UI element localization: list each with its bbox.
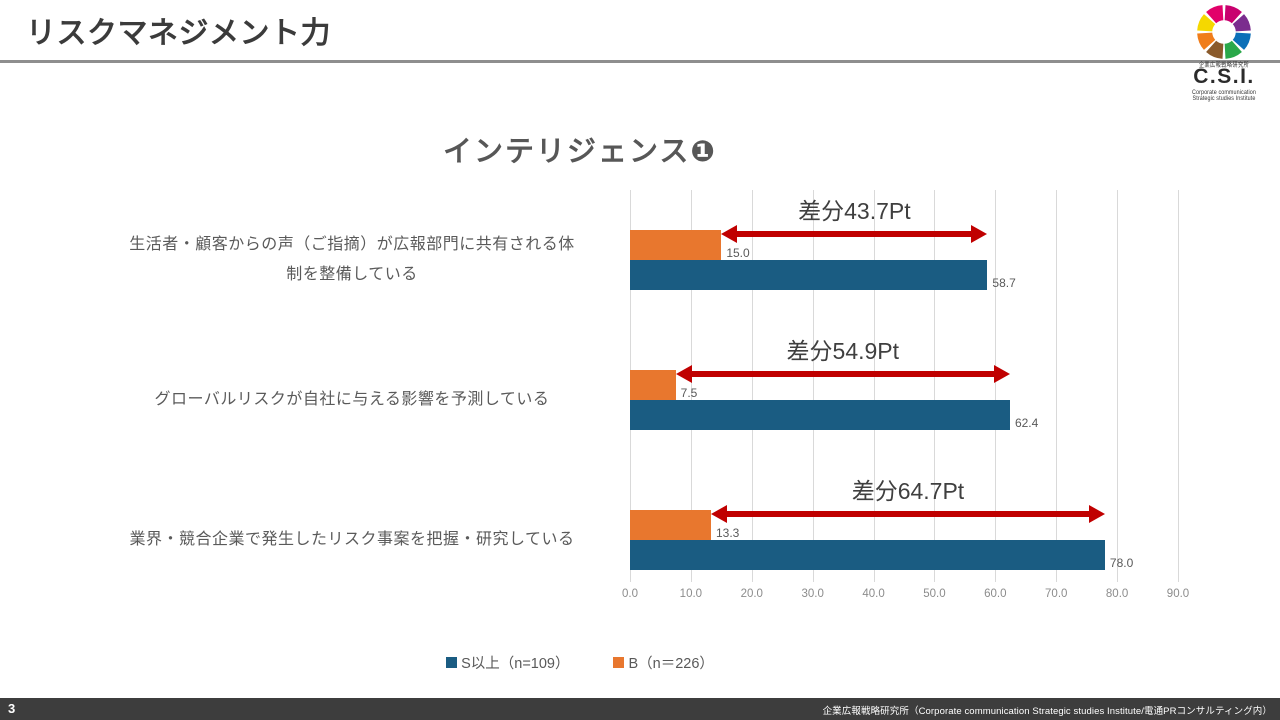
legend-label: B（n＝226） — [628, 652, 713, 673]
x-tick-label: 0.0 — [622, 588, 638, 600]
bar-value-label: 58.7 — [992, 276, 1015, 290]
page-title: リスクマネジメント力 — [26, 8, 331, 52]
category-label-line: 生活者・顧客からの声（ご指摘）が広報部門に共有される体 — [72, 230, 632, 260]
legend-swatch-icon — [446, 657, 457, 668]
legend-item[interactable]: S以上（n=109） — [446, 652, 569, 673]
gridline — [934, 190, 935, 582]
arrow-head-right-icon — [971, 225, 987, 243]
difference-label: 差分54.9Pt — [676, 332, 1010, 366]
x-tick-label: 40.0 — [862, 588, 884, 600]
logo-acronym: C.S.I. — [1182, 66, 1266, 88]
bar-series-b — [630, 510, 711, 540]
chart-plot-area: 15.058.77.562.413.378.0 差分43.7Pt差分54.9Pt… — [630, 190, 1178, 582]
arrow-shaft — [685, 371, 1001, 377]
slide: リスクマネジメント力 企業広報戦略研究所 C.S.I. Corporate co… — [0, 0, 1280, 720]
x-tick-label: 80.0 — [1106, 588, 1128, 600]
category-label-line: 業界・競合企業で発生したリスク事案を把握・研究している — [72, 525, 632, 555]
difference-label: 差分43.7Pt — [721, 192, 987, 226]
difference-arrow — [676, 365, 1010, 383]
logo-ring-icon — [1196, 4, 1252, 60]
bar-series-b — [630, 230, 721, 260]
arrow-head-right-icon — [994, 365, 1010, 383]
bar-series-s — [630, 540, 1105, 570]
gridline — [995, 190, 996, 582]
legend-label: S以上（n=109） — [461, 652, 569, 673]
category-label-line: グローバルリスクが自社に与える影響を予測している — [72, 385, 632, 415]
chart-title: インテリジェンス❶ — [0, 128, 1160, 170]
x-tick-label: 50.0 — [923, 588, 945, 600]
category-label: グローバルリスクが自社に与える影響を予測している — [72, 385, 632, 415]
bar-series-s — [630, 260, 987, 290]
csi-logo: 企業広報戦略研究所 C.S.I. Corporate communication… — [1182, 4, 1266, 100]
legend-swatch-icon — [613, 657, 624, 668]
x-tick-label: 60.0 — [984, 588, 1006, 600]
category-label: 業界・競合企業で発生したリスク事案を把握・研究している — [72, 525, 632, 555]
header-divider — [0, 60, 1280, 63]
bar-value-label: 62.4 — [1015, 416, 1038, 430]
footer-credit: 企業広報戦略研究所（Corporate communication Strate… — [823, 703, 1272, 717]
bar-value-label: 13.3 — [716, 526, 739, 540]
gridline — [1056, 190, 1057, 582]
bar-value-label: 7.5 — [681, 386, 698, 400]
gridline — [813, 190, 814, 582]
legend-item[interactable]: B（n＝226） — [613, 652, 713, 673]
logo-subtitle-line2: Strategic studies Institute — [1182, 95, 1266, 102]
arrow-shaft — [730, 231, 978, 237]
bar-value-label: 15.0 — [726, 246, 749, 260]
gridline — [1178, 190, 1179, 582]
gridline — [752, 190, 753, 582]
page-number: 3 — [8, 701, 15, 716]
difference-label: 差分64.7Pt — [711, 472, 1105, 506]
x-tick-label: 20.0 — [741, 588, 763, 600]
category-label: 生活者・顧客からの声（ご指摘）が広報部門に共有される体制を整備している — [72, 230, 632, 290]
arrow-head-right-icon — [1089, 505, 1105, 523]
gridline — [874, 190, 875, 582]
difference-arrow — [721, 225, 987, 243]
footer-bar: 3 企業広報戦略研究所（Corporate communication Stra… — [0, 698, 1280, 720]
bar-series-s — [630, 400, 1010, 430]
x-tick-label: 90.0 — [1167, 588, 1189, 600]
difference-arrow — [711, 505, 1105, 523]
bar-value-label: 78.0 — [1110, 556, 1133, 570]
x-tick-label: 30.0 — [801, 588, 823, 600]
bar-series-b — [630, 370, 676, 400]
x-tick-label: 70.0 — [1045, 588, 1067, 600]
category-label-line: 制を整備している — [72, 260, 632, 290]
x-tick-label: 10.0 — [680, 588, 702, 600]
arrow-shaft — [720, 511, 1096, 517]
chart-legend: S以上（n=109）B（n＝226） — [0, 652, 1160, 673]
gridline — [1117, 190, 1118, 582]
